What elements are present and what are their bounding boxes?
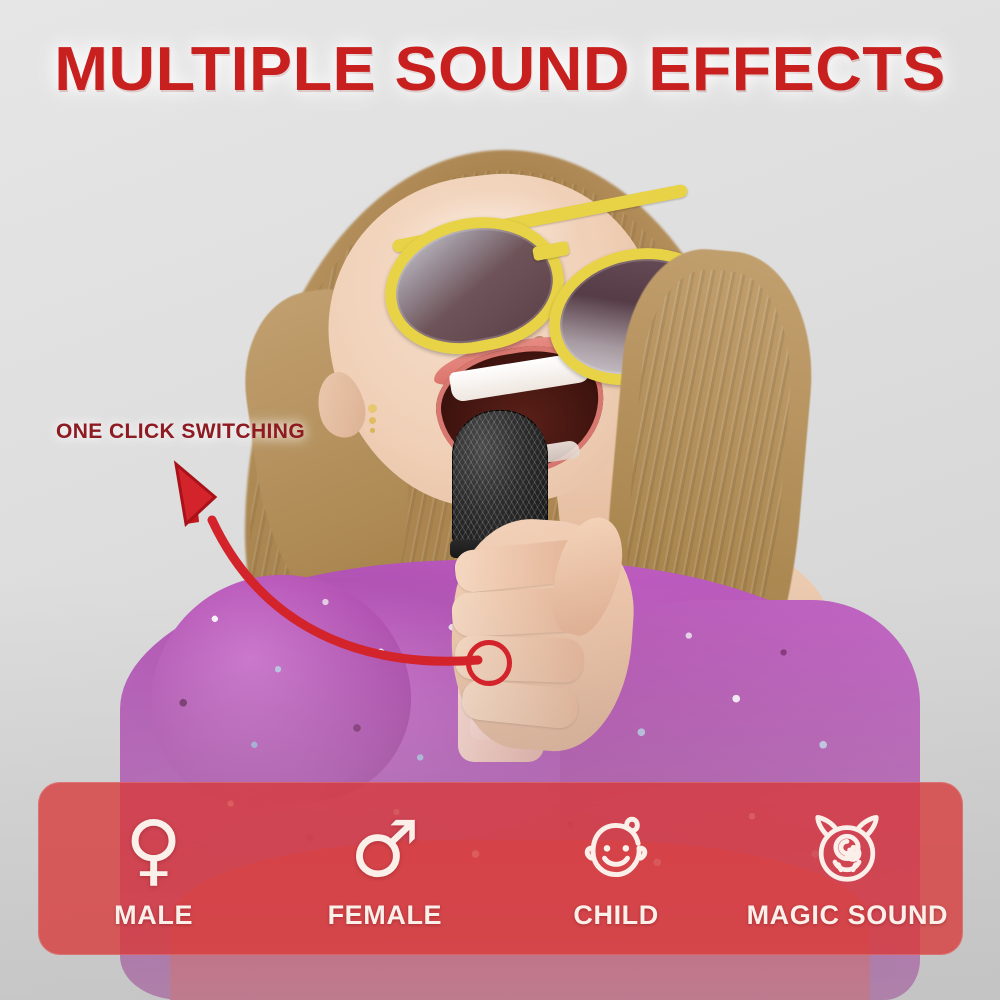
product-marketing-image: MULTIPLE SOUND EFFECTS ONE CLICK SWITCHI…: [0, 0, 1000, 1000]
feature-label-female: FEMALE: [328, 900, 443, 931]
page-title: MULTIPLE SOUND EFFECTS: [0, 34, 1000, 105]
annotation-label: ONE CLICK SWITCHING: [56, 420, 305, 444]
feature-label-male: MALE: [114, 900, 193, 931]
baby-face-icon: [575, 806, 657, 894]
feature-label-child: CHILD: [573, 900, 659, 931]
feature-bar: ♀ MALE ♂ FEMALE: [38, 782, 963, 955]
feature-item-male[interactable]: ♀ MALE: [38, 782, 269, 955]
earring-left: [368, 404, 377, 413]
feature-label-magic-sound: MAGIC SOUND: [747, 900, 949, 931]
devil-face-icon: [804, 806, 890, 894]
microphone-mode-button-highlight[interactable]: [466, 640, 512, 686]
feature-item-child[interactable]: CHILD: [501, 782, 732, 955]
mars-symbol-icon: ♂: [350, 806, 420, 894]
feature-item-female[interactable]: ♂ FEMALE: [269, 782, 500, 955]
feature-item-magic-sound[interactable]: MAGIC SOUND: [732, 782, 963, 955]
venus-symbol-icon: ♀: [125, 806, 182, 894]
